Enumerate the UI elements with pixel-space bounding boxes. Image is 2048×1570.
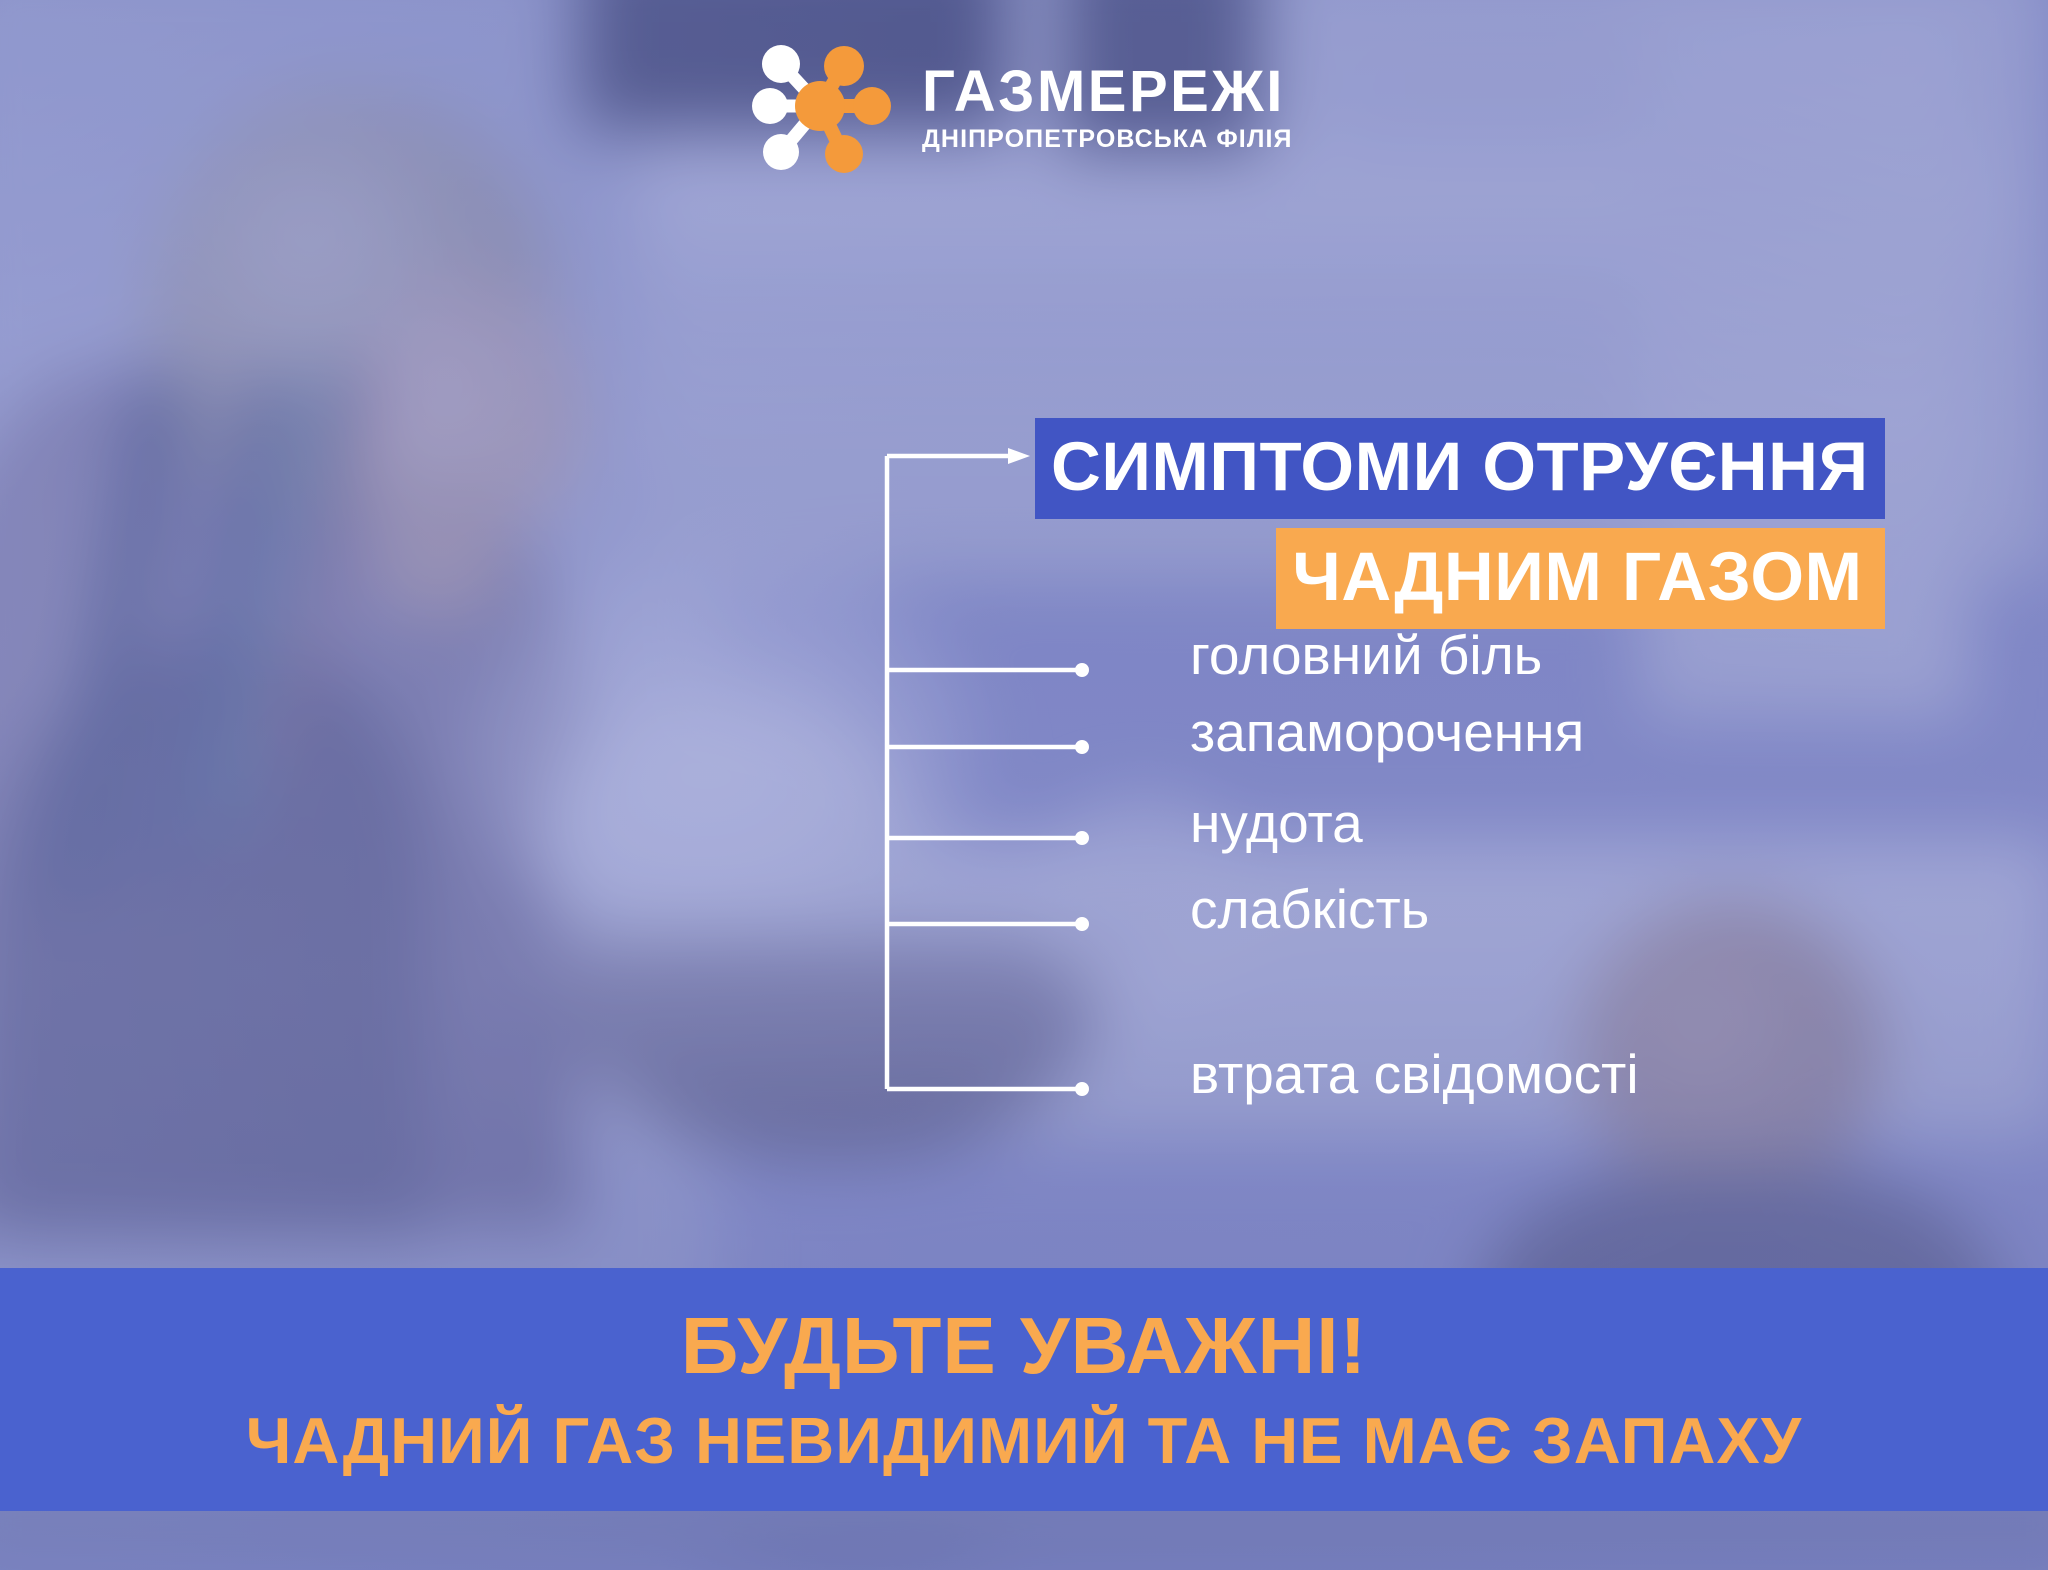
logo-wordmark: ГАЗМЕРЕЖІ ДНІПРОПЕТРОВСЬКА ФІЛІЯ (922, 63, 1293, 152)
symptom-item-5: втрата свідомості (1190, 1028, 1639, 1120)
warning-subtext: ЧАДНИЙ ГАЗ НЕВИДИМИЙ ТА НЕ МАЄ ЗАПАХУ (246, 1408, 1802, 1473)
headline-line-1: СИМПТОМИ ОТРУЄННЯ (1035, 418, 1885, 519)
bullet-dot-2 (1075, 740, 1089, 754)
warning-headline: БУДЬТЕ УВАЖНІ! (681, 1306, 1367, 1386)
symptom-item-3: нудота (1190, 777, 1363, 869)
symptom-item-4: слабкість (1190, 863, 1429, 955)
bullet-dot-1 (1075, 663, 1089, 677)
bullet-dot-4 (1075, 917, 1089, 931)
warning-banner: БУДЬТЕ УВАЖНІ! ЧАДНИЙ ГАЗ НЕВИДИМИЙ ТА Н… (0, 1268, 2048, 1511)
gazmerezhi-molecule-logo-icon (750, 40, 900, 175)
brand-logo: ГАЗМЕРЕЖІ ДНІПРОПЕТРОВСЬКА ФІЛІЯ (750, 40, 1293, 175)
symptom-list: головний біль запаморочення нудота слабк… (1190, 609, 1990, 1120)
headline-block: СИМПТОМИ ОТРУЄННЯ ЧАДНИМ ГАЗОМ (1035, 418, 1885, 629)
bullet-dot-5 (1075, 1082, 1089, 1096)
logo-branch-name: ДНІПРОПЕТРОВСЬКА ФІЛІЯ (922, 127, 1293, 152)
logo-company-name: ГАЗМЕРЕЖІ (922, 63, 1293, 121)
symptom-item-2: запаморочення (1190, 686, 1584, 778)
bullet-dot-3 (1075, 831, 1089, 845)
connector-arrowhead-icon (1008, 448, 1030, 464)
